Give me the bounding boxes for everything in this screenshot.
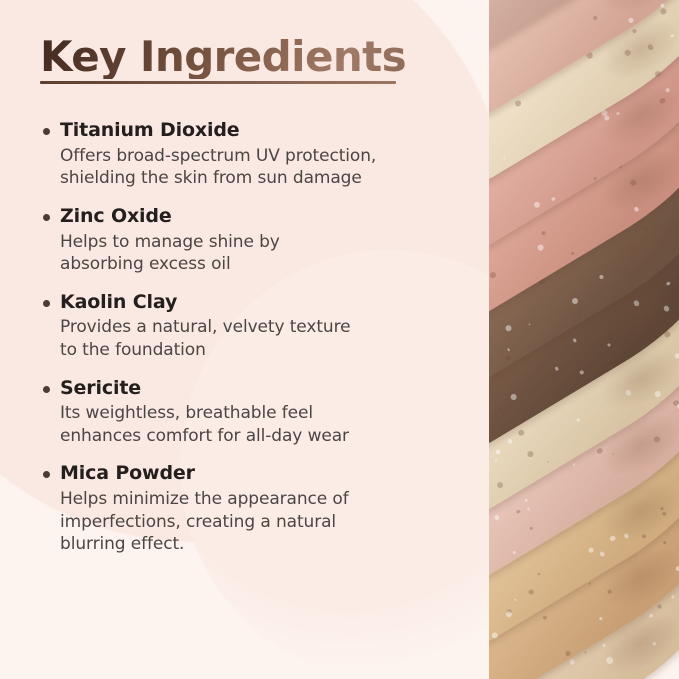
powder-speck: [671, 595, 675, 599]
powder-speck: [507, 438, 513, 444]
powder-speck: [648, 613, 653, 618]
ingredient-description: Its weightless, breathable feel enhances…: [60, 402, 460, 447]
powder-speck: [663, 304, 671, 312]
powder-speck: [509, 393, 517, 401]
bullet-icon: [43, 471, 50, 478]
powder-speck: [538, 573, 541, 576]
powder-speck: [659, 8, 667, 16]
powder-speck: [607, 342, 612, 347]
powder-speck: [494, 460, 497, 463]
powder-speck: [666, 281, 671, 286]
powder-speck: [625, 389, 632, 396]
powder-speck: [589, 582, 592, 585]
powder-speck: [541, 231, 546, 236]
powder-speck: [503, 157, 506, 160]
list-item: Zinc Oxide Helps to manage shine by abso…: [40, 204, 460, 276]
powder-speck: [498, 407, 503, 412]
powder-speck: [588, 547, 595, 554]
powder-speck: [536, 244, 544, 252]
powder-speck: [623, 533, 629, 539]
ingredient-description: Offers broad-spectrum UV protection, shi…: [60, 145, 460, 190]
powder-speck: [633, 206, 639, 212]
powder-speck: [495, 448, 503, 456]
list-item: Kaolin Clay Provides a natural, velvety …: [40, 290, 460, 362]
powder-speck: [530, 527, 533, 530]
ingredient-name: Titanium Dioxide: [60, 118, 460, 144]
powder-speck: [514, 99, 523, 108]
powder-speck: [570, 251, 575, 256]
powder-speck: [514, 598, 517, 601]
ingredient-description: Helps to manage shine by absorbing exces…: [60, 231, 460, 276]
powder-speck: [496, 481, 504, 489]
powder-speck: [652, 641, 657, 646]
powder-speck: [659, 97, 667, 105]
powder-speck: [629, 178, 638, 187]
ingredient-name: Zinc Oxide: [60, 204, 460, 230]
powder-speck: [609, 535, 617, 543]
ingredient-description: Helps minimize the appearance of imperfe…: [60, 488, 460, 556]
powder-speck: [665, 88, 670, 93]
powder-speck: [504, 324, 513, 333]
powder-speck: [663, 541, 667, 545]
powder-speck: [660, 507, 664, 511]
powder-speck: [527, 588, 534, 595]
list-item: Mica Powder Helps minimize the appearanc…: [40, 461, 460, 555]
powder-speck: [612, 453, 614, 455]
powder-speck: [596, 447, 604, 455]
powder-speck: [569, 659, 575, 665]
powder-speck: [576, 418, 580, 422]
bullet-icon: [43, 128, 50, 135]
powder-speck: [616, 112, 619, 115]
ingredient-infographic: Key Ingredients Titanium Dioxide Offers …: [0, 0, 679, 679]
powder-speck: [494, 514, 500, 520]
list-item: Sericite Its weightless, breathable feel…: [40, 376, 460, 448]
bullet-icon: [43, 386, 50, 393]
ingredient-name: Mica Powder: [60, 461, 460, 487]
powder-speck: [542, 615, 548, 621]
powder-speck: [662, 511, 668, 517]
ingredient-name: Kaolin Clay: [60, 290, 460, 316]
powder-speck: [505, 610, 513, 618]
powder-speck: [517, 429, 525, 437]
ingredient-name: Sericite: [60, 376, 460, 402]
ingredient-description: Provides a natural, velvety texture to t…: [60, 316, 460, 361]
powder-speck: [599, 551, 605, 557]
powder-speck: [604, 114, 611, 121]
powder-speck: [647, 43, 655, 51]
powder-speck: [670, 34, 675, 39]
powder-speck: [593, 176, 597, 180]
powder-speck: [489, 271, 497, 279]
powder-speck: [657, 604, 663, 610]
powder-speck: [632, 29, 637, 34]
powder-speck: [674, 352, 679, 358]
powder-speck: [527, 507, 531, 511]
powder-speck: [608, 589, 613, 594]
powder-speck: [524, 499, 527, 502]
powder-speck: [579, 370, 584, 375]
powder-speck: [675, 565, 679, 572]
powder-speck: [642, 533, 647, 538]
powder-speck: [605, 656, 614, 665]
powder-speck: [636, 293, 640, 297]
powder-speck: [653, 435, 661, 443]
powder-speck: [571, 297, 579, 305]
powder-swatch-image: [489, 0, 679, 679]
list-item: Titanium Dioxide Offers broad-spectrum U…: [40, 118, 460, 190]
powder-band-stack: [489, 0, 679, 679]
powder-speck: [624, 49, 632, 57]
powder-speck: [599, 616, 603, 620]
powder-speck: [599, 275, 604, 280]
powder-speck: [516, 509, 521, 514]
powder-speck: [565, 651, 571, 657]
powder-speck: [551, 197, 556, 202]
page-title: Key Ingredients: [40, 36, 406, 79]
powder-speck: [572, 463, 575, 466]
powder-speck: [529, 323, 531, 325]
powder-speck: [654, 390, 662, 398]
page-title-wrap: Key Ingredients: [40, 36, 406, 84]
title-underline: [40, 81, 396, 84]
bullet-icon: [43, 300, 50, 307]
powder-speck: [584, 651, 587, 654]
powder-speck: [533, 200, 541, 208]
powder-speck: [633, 300, 640, 307]
powder-speck: [602, 643, 606, 647]
powder-speck: [504, 355, 512, 363]
text-column: Key Ingredients Titanium Dioxide Offers …: [0, 0, 470, 679]
powder-speck: [512, 551, 516, 555]
powder-speck: [642, 226, 648, 232]
powder-speck: [555, 366, 559, 370]
powder-speck: [547, 460, 550, 463]
powder-speck: [594, 331, 596, 333]
powder-speck: [592, 15, 598, 21]
powder-speck: [626, 338, 632, 344]
powder-speck: [576, 314, 579, 317]
powder-speck: [526, 449, 535, 458]
ingredient-list: Titanium Dioxide Offers broad-spectrum U…: [40, 118, 460, 570]
powder-speck: [627, 17, 634, 24]
bullet-icon: [43, 214, 50, 221]
powder-speck: [507, 348, 511, 352]
